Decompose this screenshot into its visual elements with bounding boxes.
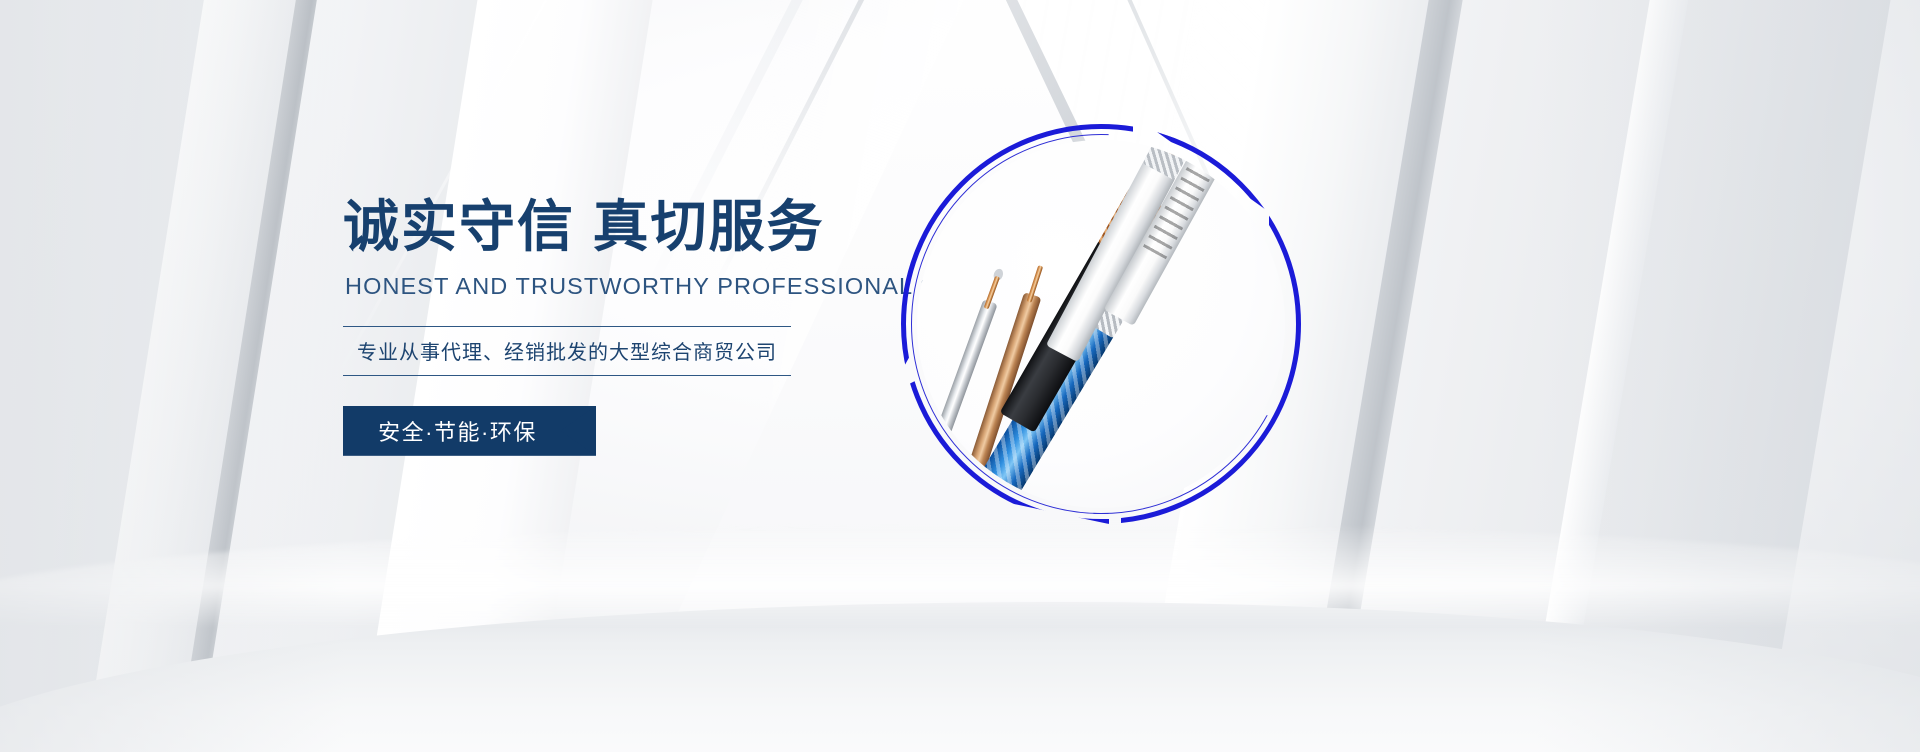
hero-banner: 诚实守信 真切服务 HONEST AND TRUSTWORTHY PROFESS… [0, 0, 1920, 752]
banner-description: 专业从事代理、经销批发的大型综合商贸公司 [343, 336, 791, 365]
product-medallion [905, 128, 1297, 520]
banner-headline: 诚实守信 真切服务 [343, 196, 863, 259]
banner-description-rules: 专业从事代理、经销批发的大型综合商贸公司 [343, 326, 791, 376]
banner-subheadline: HONEST AND TRUSTWORTHY PROFESSIONAL SERV… [345, 273, 863, 300]
ribbon-badge: 安全·节能·环保 [343, 406, 596, 456]
banner-copy: 诚实守信 真切服务 HONEST AND TRUSTWORTHY PROFESS… [343, 196, 863, 456]
ribbon-label: 安全·节能·环保 [378, 415, 537, 447]
